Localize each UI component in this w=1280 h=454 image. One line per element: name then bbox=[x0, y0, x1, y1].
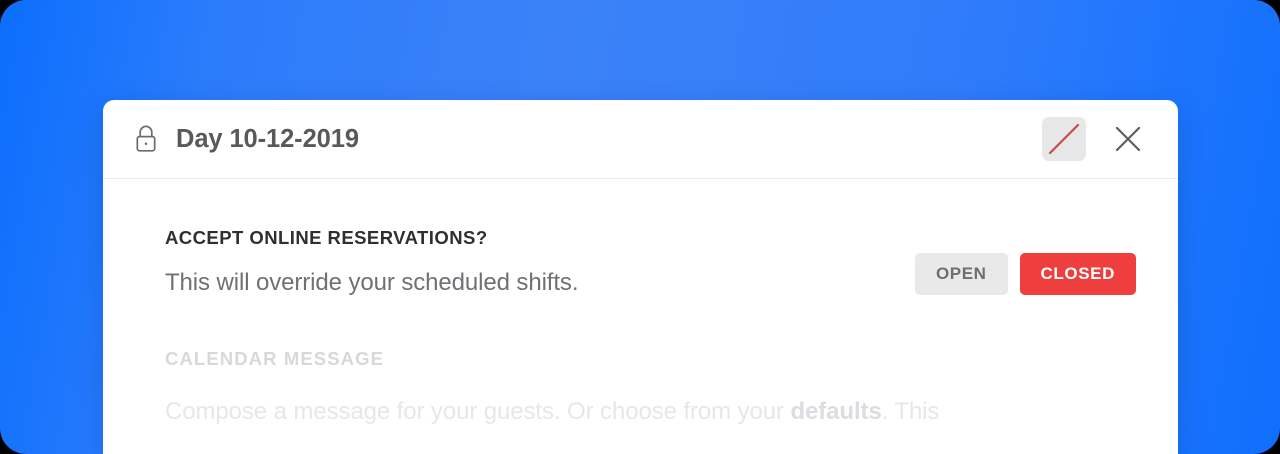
calendar-message-text-end: . This bbox=[882, 398, 940, 425]
page-title: Day 10-12-2019 bbox=[176, 125, 359, 154]
diagonal-slash-button[interactable] bbox=[1042, 117, 1086, 161]
close-x-icon bbox=[1112, 123, 1144, 155]
modal-header-left: Day 10-12-2019 bbox=[133, 124, 359, 154]
calendar-message-defaults-link[interactable]: defaults bbox=[790, 398, 881, 425]
modal-header: Day 10-12-2019 bbox=[103, 100, 1178, 179]
open-closed-toggle-group: OPEN CLOSED bbox=[915, 253, 1136, 295]
accept-reservations-subtext: This will override your scheduled shifts… bbox=[165, 268, 915, 298]
calendar-message-text-start: Compose a message for your guests. Or ch… bbox=[165, 398, 790, 425]
app-background: Day 10-12-2019 bbox=[0, 0, 1280, 454]
diagonal-slash-icon bbox=[1042, 117, 1086, 161]
close-button[interactable] bbox=[1108, 119, 1148, 159]
accept-reservations-heading: ACCEPT ONLINE RESERVATIONS? bbox=[165, 227, 915, 249]
accept-reservations-section: ACCEPT ONLINE RESERVATIONS? This will ov… bbox=[165, 227, 1148, 298]
calendar-message-label: CALENDAR MESSAGE bbox=[165, 348, 1148, 370]
open-button[interactable]: OPEN bbox=[915, 253, 1008, 295]
calendar-message-section: CALENDAR MESSAGE Compose a message for y… bbox=[165, 348, 1148, 427]
day-settings-modal: Day 10-12-2019 bbox=[103, 100, 1178, 454]
modal-header-actions bbox=[1042, 117, 1148, 161]
calendar-message-paragraph: Compose a message for your guests. Or ch… bbox=[165, 397, 1148, 427]
accept-reservations-text: ACCEPT ONLINE RESERVATIONS? This will ov… bbox=[165, 227, 915, 298]
lock-closed-icon bbox=[133, 124, 159, 154]
closed-button[interactable]: CLOSED bbox=[1020, 253, 1136, 295]
modal-body: ACCEPT ONLINE RESERVATIONS? This will ov… bbox=[103, 179, 1178, 427]
